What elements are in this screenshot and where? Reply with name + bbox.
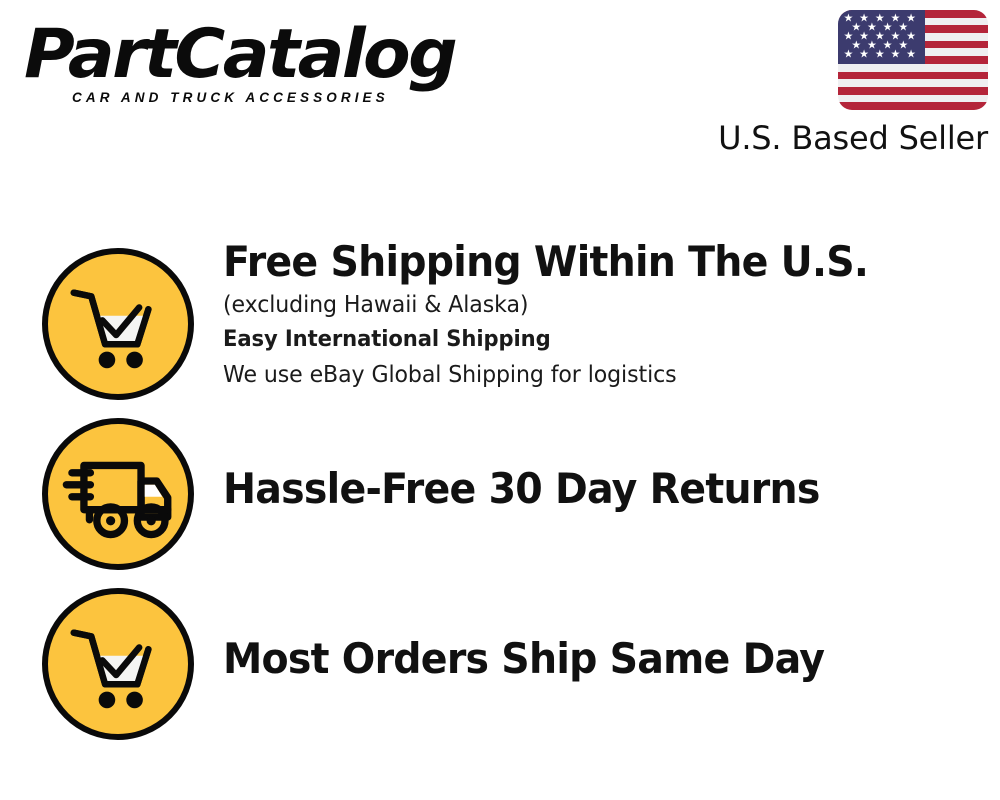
delivery-truck-icon bbox=[42, 418, 194, 570]
seller-label: U.S. Based Seller bbox=[718, 119, 988, 157]
feature-text: Most Orders Ship Same Day bbox=[223, 633, 983, 685]
feature-text: Free Shipping Within The U.S. (excluding… bbox=[223, 236, 983, 392]
feature-subline: We use eBay Global Shipping for logistic… bbox=[223, 358, 953, 392]
feature-row: Most Orders Ship Same Day bbox=[0, 588, 1000, 758]
feature-row: Hassle-Free 30 Day Returns bbox=[0, 418, 1000, 588]
feature-subline: (excluding Hawaii & Alaska) bbox=[223, 288, 953, 322]
feature-list: Free Shipping Within The U.S. (excluding… bbox=[0, 248, 1000, 758]
feature-row: Free Shipping Within The U.S. (excluding… bbox=[0, 248, 1000, 418]
us-based-seller-badge: ★ ★ ★ ★ ★ ★ ★ ★ ★ ★ ★ ★ ★ ★ ★ ★ ★ ★ ★ ★ … bbox=[718, 10, 988, 157]
feature-headline: Hassle-Free 30 Day Returns bbox=[223, 463, 937, 515]
feature-headline: Most Orders Ship Same Day bbox=[223, 633, 937, 685]
shopping-cart-check-icon bbox=[42, 588, 194, 740]
shopping-cart-check-icon bbox=[42, 248, 194, 400]
brand-logo: PartCatalog CAR AND TRUCK ACCESSORIES bbox=[24, 18, 494, 105]
feature-text: Hassle-Free 30 Day Returns bbox=[223, 463, 983, 515]
us-flag-icon: ★ ★ ★ ★ ★ ★ ★ ★ ★ ★ ★ ★ ★ ★ ★ ★ ★ ★ ★ ★ … bbox=[838, 10, 988, 110]
feature-headline: Free Shipping Within The U.S. bbox=[223, 236, 937, 288]
brand-wordmark: PartCatalog bbox=[24, 18, 503, 92]
flag-stars: ★ ★ ★ ★ ★ ★ ★ ★ ★ ★ ★ ★ ★ ★ ★ ★ ★ ★ ★ ★ … bbox=[838, 10, 925, 64]
feature-subline-bold: Easy International Shipping bbox=[223, 322, 953, 358]
